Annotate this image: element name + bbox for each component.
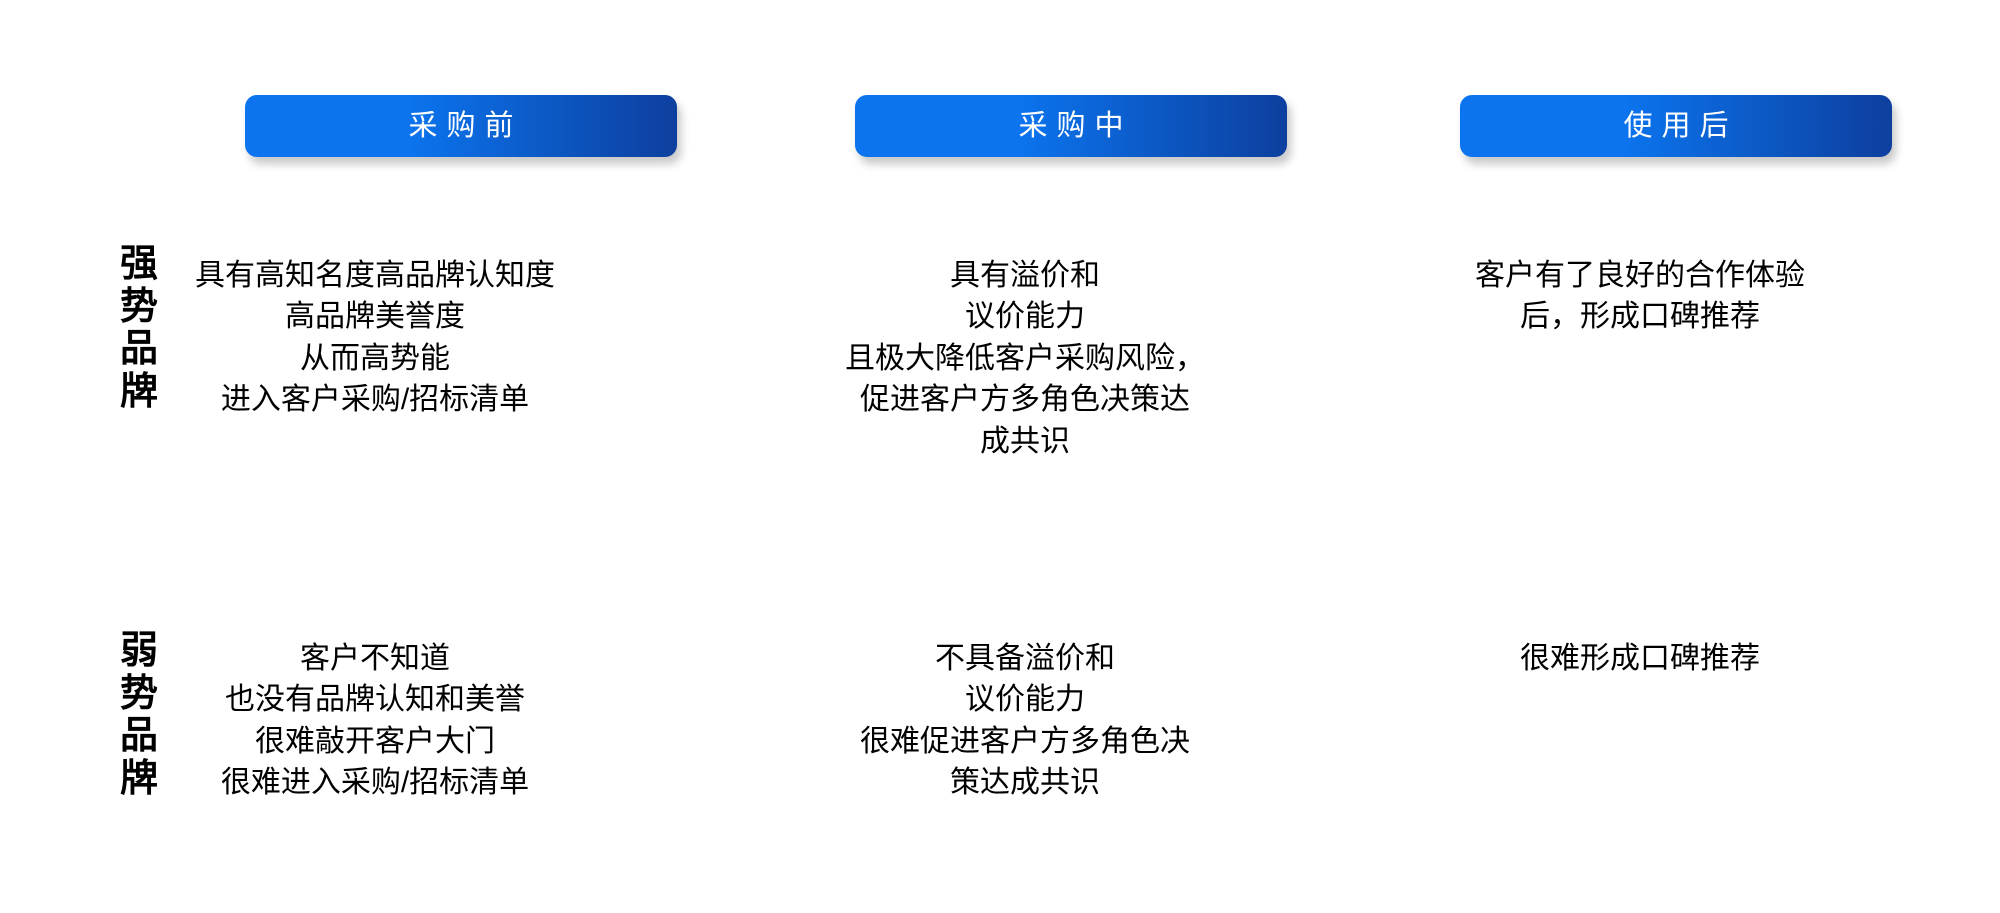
- stage-banner-pre-purchase[interactable]: 采购前: [245, 95, 677, 157]
- cell-strong-brand-post-use: 客户有了良好的合作体验 后，形成口碑推荐: [1430, 255, 1850, 338]
- cell-strong-brand-in-purchase: 具有溢价和 议价能力 且极大降低客户采购风险， 促进客户方多角色决策达 成共识: [800, 255, 1250, 462]
- row-label-char: 品: [108, 328, 170, 371]
- stage-banner-label: 采购中: [1009, 112, 1132, 141]
- stage-banner-label: 采购前: [399, 112, 522, 141]
- row-label-strong-brand: 强 势 品 牌: [108, 243, 170, 413]
- row-label-char: 弱: [108, 630, 170, 673]
- row-label-char: 势: [108, 286, 170, 329]
- row-label-char: 牌: [108, 758, 170, 801]
- cell-strong-brand-pre-purchase: 具有高知名度高品牌认知度 高品牌美誉度 从而高势能 进入客户采购/招标清单: [190, 255, 560, 421]
- row-label-char: 势: [108, 673, 170, 716]
- stage-banner-post-use[interactable]: 使用后: [1460, 95, 1892, 157]
- cell-weak-brand-pre-purchase: 客户不知道 也没有品牌认知和美誉 很难敲开客户大门 很难进入采购/招标清单: [190, 638, 560, 804]
- stage-banner-row: 采购前 采购中 使用后: [0, 95, 2000, 157]
- stage-banner-in-purchase[interactable]: 采购中: [855, 95, 1287, 157]
- cell-weak-brand-in-purchase: 不具备溢价和 议价能力 很难促进客户方多角色决 策达成共识: [800, 638, 1250, 804]
- slide-canvas: 采购前 采购中 使用后 强 势 品 牌 具有高知名度高品牌认知度 高品牌美誉度 …: [0, 0, 2000, 913]
- row-label-char: 牌: [108, 371, 170, 414]
- row-label-weak-brand: 弱 势 品 牌: [108, 630, 170, 800]
- row-label-char: 强: [108, 243, 170, 286]
- stage-banner-label: 使用后: [1614, 112, 1737, 141]
- cell-weak-brand-post-use: 很难形成口碑推荐: [1430, 638, 1850, 679]
- row-label-char: 品: [108, 715, 170, 758]
